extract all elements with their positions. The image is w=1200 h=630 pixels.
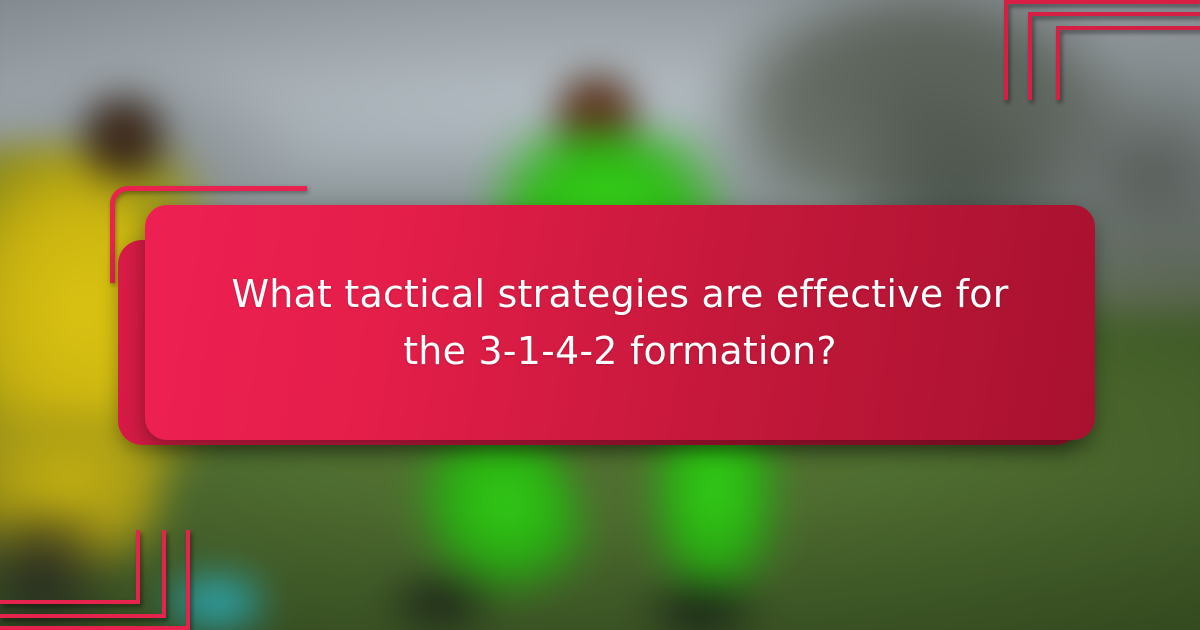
question-title: What tactical strategies are effective f…	[225, 266, 1015, 380]
corner-bracket-bottom-left-3	[0, 530, 140, 604]
question-card: What tactical strategies are effective f…	[145, 205, 1095, 440]
corner-bracket-top-right-3	[1056, 26, 1200, 100]
social-card-canvas: What tactical strategies are effective f…	[0, 0, 1200, 630]
